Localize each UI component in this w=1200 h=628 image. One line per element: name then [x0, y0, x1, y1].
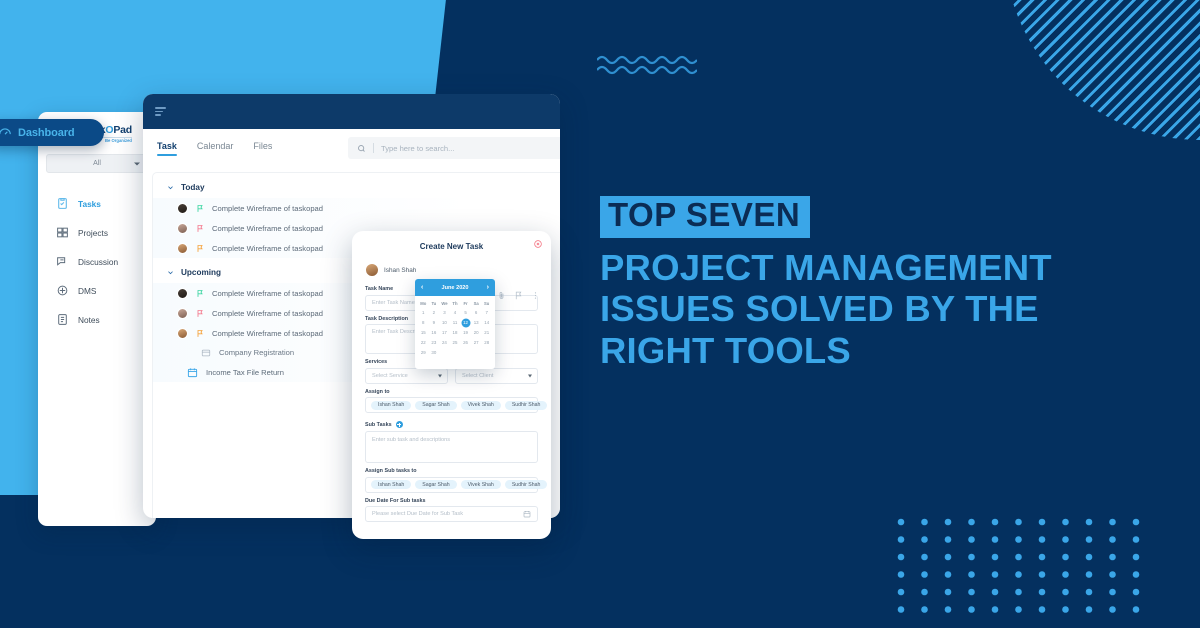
- projects-icon: [56, 226, 69, 239]
- field-assign-to: Assign to Ishan Shah Sagar Shah Vivek Sh…: [352, 384, 551, 414]
- avatar: [177, 308, 188, 319]
- calendar-day[interactable]: 16: [429, 328, 440, 338]
- sidebar-label: DMS: [78, 286, 96, 296]
- flag-icon: [196, 204, 204, 213]
- calendar-dow: We: [439, 299, 450, 308]
- sidebar-item-dashboard[interactable]: Dashboard: [0, 119, 104, 146]
- client-select[interactable]: Select Client: [455, 368, 538, 384]
- flag-icon: [196, 329, 204, 338]
- modal-user-name: Ishan Shah: [384, 267, 416, 274]
- calendar-day: [450, 347, 461, 357]
- calendar-dow: Su: [481, 299, 492, 308]
- headline-line: ISSUES SOLVED BY THE: [600, 288, 1170, 330]
- due-date-input[interactable]: Please select Due Date for Sub Task: [365, 506, 538, 522]
- headline-line: PROJECT MANAGEMENT: [600, 247, 1170, 289]
- sub-assignee-chip[interactable]: Vivek Shah: [461, 480, 501, 489]
- calendar-day: [481, 347, 492, 357]
- calendar-day[interactable]: 26: [460, 337, 471, 347]
- search-placeholder: Type here to search...: [381, 144, 454, 153]
- sidebar-label: Projects: [78, 228, 108, 238]
- avatar: [177, 243, 188, 254]
- group-title: Upcoming: [181, 268, 221, 277]
- avatar: [177, 223, 188, 234]
- task-title: Complete Wireframe of taskopad: [212, 309, 323, 318]
- field-assign-sub-tasks: Assign Sub tasks to Ishan Shah Sagar Sha…: [352, 463, 551, 493]
- document-title: Income Tax File Return: [206, 368, 284, 377]
- assignee-chip[interactable]: Sudhir Shah: [505, 401, 548, 410]
- calendar-dow: Mo: [418, 299, 429, 308]
- subtask-icon: [201, 348, 211, 358]
- chevron-left-icon[interactable]: ‹: [421, 284, 423, 291]
- headline-kicker: TOP SEVEN: [600, 196, 810, 238]
- calendar-day[interactable]: 19: [460, 328, 471, 338]
- placeholder: Select Service: [372, 373, 408, 379]
- avatar: [177, 328, 188, 339]
- wave-lines-decoration: [597, 52, 697, 78]
- subtask-title: Company Registration: [219, 348, 294, 357]
- calendar-day[interactable]: 9: [429, 318, 440, 328]
- placeholder: Select Client: [462, 373, 493, 379]
- chevron-down-icon: [167, 269, 174, 276]
- window-titlebar: [143, 94, 560, 129]
- dms-icon: [56, 284, 69, 297]
- attachment-icon[interactable]: [497, 291, 506, 300]
- assignee-chip[interactable]: Sagar Shah: [415, 401, 456, 410]
- calendar-day[interactable]: 8: [418, 318, 429, 328]
- more-icon[interactable]: [531, 291, 540, 300]
- sidebar-card: TaskOPad Be Organized All Tasks Projects…: [38, 112, 156, 526]
- headline-lines: PROJECT MANAGEMENT ISSUES SOLVED BY THE …: [600, 247, 1170, 372]
- search-input[interactable]: Type here to search...: [348, 137, 560, 159]
- placeholder: Enter Task Name: [372, 300, 415, 306]
- flag-icon[interactable]: [514, 291, 523, 300]
- calendar-day: [471, 347, 482, 357]
- flag-icon: [196, 244, 204, 253]
- search-icon: [357, 144, 366, 153]
- calendar-dow: Sa: [471, 299, 482, 308]
- calendar-dow: Fr: [460, 299, 471, 308]
- calendar-header: ‹ June 2020 ›: [415, 279, 495, 296]
- sidebar-item-tasks[interactable]: Tasks: [38, 189, 156, 218]
- sub-assignee-chip[interactable]: Sudhir Shah: [505, 480, 548, 489]
- flag-icon: [196, 309, 204, 318]
- field-label: Due Date For Sub tasks: [365, 498, 538, 504]
- task-title: Complete Wireframe of taskopad: [212, 224, 323, 233]
- tab-calendar[interactable]: Calendar: [197, 141, 234, 156]
- modal-title: Create New Task: [352, 231, 551, 259]
- search-divider: [373, 143, 374, 153]
- calendar-day[interactable]: 7: [481, 308, 492, 318]
- headline-block: TOP SEVEN PROJECT MANAGEMENT ISSUES SOLV…: [600, 196, 1170, 371]
- assignee-chip[interactable]: Vivek Shah: [461, 401, 501, 410]
- filter-dropdown[interactable]: All: [46, 154, 148, 173]
- headline-line: RIGHT TOOLS: [600, 330, 1170, 372]
- placeholder: Please select Due Date for Sub Task: [372, 511, 463, 517]
- field-sub-tasks: Enter sub task and descriptions: [352, 431, 551, 463]
- calendar-day-value: 12: [463, 320, 468, 325]
- services-row: Select Service Select Client: [365, 368, 538, 384]
- calendar-day[interactable]: 5: [460, 308, 471, 318]
- calendar-day[interactable]: 17: [439, 328, 450, 338]
- sidebar-nav: Tasks Projects Discussion DMS Notes: [38, 189, 156, 334]
- chevron-down-icon: [167, 184, 174, 191]
- dashboard-label: Dashboard: [18, 127, 75, 139]
- avatar: [177, 288, 188, 299]
- calendar-day: [439, 347, 450, 357]
- tab-task[interactable]: Task: [157, 141, 177, 156]
- calendar-grid: Mo Tu We Th Fr Sa Su 1 2 3 4 5 6 7 8 9 1…: [415, 296, 495, 357]
- calendar-day[interactable]: 27: [471, 337, 482, 347]
- calendar-day[interactable]: 1: [418, 308, 429, 318]
- hamburger-icon[interactable]: [155, 107, 166, 116]
- date-picker-popup: ‹ June 2020 › Mo Tu We Th Fr Sa Su 1 2 3…: [415, 279, 495, 369]
- calendar-day[interactable]: 20: [471, 328, 482, 338]
- close-icon[interactable]: [534, 240, 542, 248]
- sub-assignee-chip[interactable]: Sagar Shah: [415, 480, 456, 489]
- calendar-day[interactable]: 15: [418, 328, 429, 338]
- tab-files[interactable]: Files: [253, 141, 272, 156]
- calendar-dow: Th: [450, 299, 461, 308]
- calendar-day[interactable]: 10: [439, 318, 450, 328]
- calendar-day: [460, 347, 471, 357]
- flag-icon: [196, 289, 204, 298]
- field-due-date: Due Date For Sub tasks Please select Due…: [352, 493, 551, 523]
- flag-icon: [196, 224, 204, 233]
- service-select[interactable]: Select Service: [365, 368, 448, 384]
- filter-value: All: [93, 160, 101, 167]
- poster-stage: TaskOPad Be Organized All Tasks Projects…: [0, 0, 1200, 628]
- create-task-modal: Create New Task Ishan Shah Task Name Ent…: [352, 231, 551, 539]
- calendar-day[interactable]: 23: [429, 337, 440, 347]
- sidebar-label: Tasks: [78, 199, 101, 209]
- placeholder: Enter sub task and descriptions: [372, 437, 450, 443]
- field-label: Assign Sub tasks to: [365, 468, 538, 474]
- stripes-pattern: [1004, 0, 1200, 140]
- calendar-icon[interactable]: [523, 510, 531, 518]
- modal-assignee[interactable]: Ishan Shah: [352, 259, 551, 281]
- chevron-down-icon: [134, 162, 140, 165]
- calendar-day[interactable]: 24: [439, 337, 450, 347]
- calendar-day[interactable]: 18: [450, 328, 461, 338]
- discussion-icon: [56, 255, 69, 268]
- tab-bar: Task Calendar Files Type here to search.…: [143, 129, 560, 167]
- subtasks-header: Sub Tasks: [352, 413, 551, 431]
- calendar-day[interactable]: 25: [450, 337, 461, 347]
- chevron-down-icon: [438, 374, 442, 377]
- calendar-day[interactable]: 14: [481, 318, 492, 328]
- task-title: Complete Wireframe of taskopad: [212, 244, 323, 253]
- group-title: Today: [181, 183, 205, 192]
- avatar: [177, 203, 188, 214]
- calendar-day[interactable]: 22: [418, 337, 429, 347]
- calendar-day[interactable]: 4: [450, 308, 461, 318]
- calendar-day[interactable]: 2: [429, 308, 440, 318]
- sub-assignee-chip[interactable]: Ishan Shah: [371, 480, 411, 489]
- calendar-dow: Tu: [429, 299, 440, 308]
- corner-stripes-decoration: [1004, 0, 1200, 140]
- subtask-input[interactable]: Enter sub task and descriptions: [365, 431, 538, 463]
- task-title: Complete Wireframe of taskopad: [212, 289, 323, 298]
- calendar-day[interactable]: 28: [481, 337, 492, 347]
- group-header-today[interactable]: Today: [153, 173, 560, 198]
- sidebar-label: Notes: [78, 315, 100, 325]
- tasks-icon: [56, 197, 69, 210]
- calendar-month-label: June 2020: [441, 285, 468, 291]
- sidebar-item-discussion[interactable]: Discussion: [38, 247, 156, 276]
- assignee-chip-group: Ishan Shah Sagar Shah Vivek Shah Sudhir …: [365, 397, 538, 413]
- assignee-chip[interactable]: Ishan Shah: [371, 401, 411, 410]
- calendar-day[interactable]: 6: [471, 308, 482, 318]
- calendar-day-selected[interactable]: 12: [460, 318, 471, 328]
- task-row[interactable]: Complete Wireframe of taskopad: [153, 198, 560, 218]
- plus-icon[interactable]: [396, 421, 403, 428]
- notes-icon: [56, 313, 69, 326]
- calendar-day[interactable]: 3: [439, 308, 450, 318]
- calendar-doc-icon: [187, 367, 198, 378]
- task-title: Complete Wireframe of taskopad: [212, 204, 323, 213]
- sidebar-item-dms[interactable]: DMS: [38, 276, 156, 305]
- chevron-right-icon[interactable]: ›: [487, 284, 489, 291]
- dashboard-icon: [0, 126, 12, 140]
- sidebar-label: Discussion: [78, 257, 118, 267]
- calendar-day[interactable]: 11: [450, 318, 461, 328]
- sub-assignee-chip-group: Ishan Shah Sagar Shah Vivek Shah Sudhir …: [365, 477, 538, 493]
- calendar-day[interactable]: 13: [471, 318, 482, 328]
- field-label: Assign to: [365, 389, 538, 395]
- sidebar-item-projects[interactable]: Projects: [38, 218, 156, 247]
- field-label: Sub Tasks: [365, 422, 392, 428]
- calendar-day[interactable]: 21: [481, 328, 492, 338]
- dot-grid-decoration: [897, 518, 1155, 614]
- chevron-down-icon: [528, 374, 532, 377]
- calendar-day[interactable]: 30: [429, 347, 440, 357]
- sidebar-item-notes[interactable]: Notes: [38, 305, 156, 334]
- calendar-day[interactable]: 29: [418, 347, 429, 357]
- task-title: Complete Wireframe of taskopad: [212, 329, 323, 338]
- avatar: [365, 263, 379, 277]
